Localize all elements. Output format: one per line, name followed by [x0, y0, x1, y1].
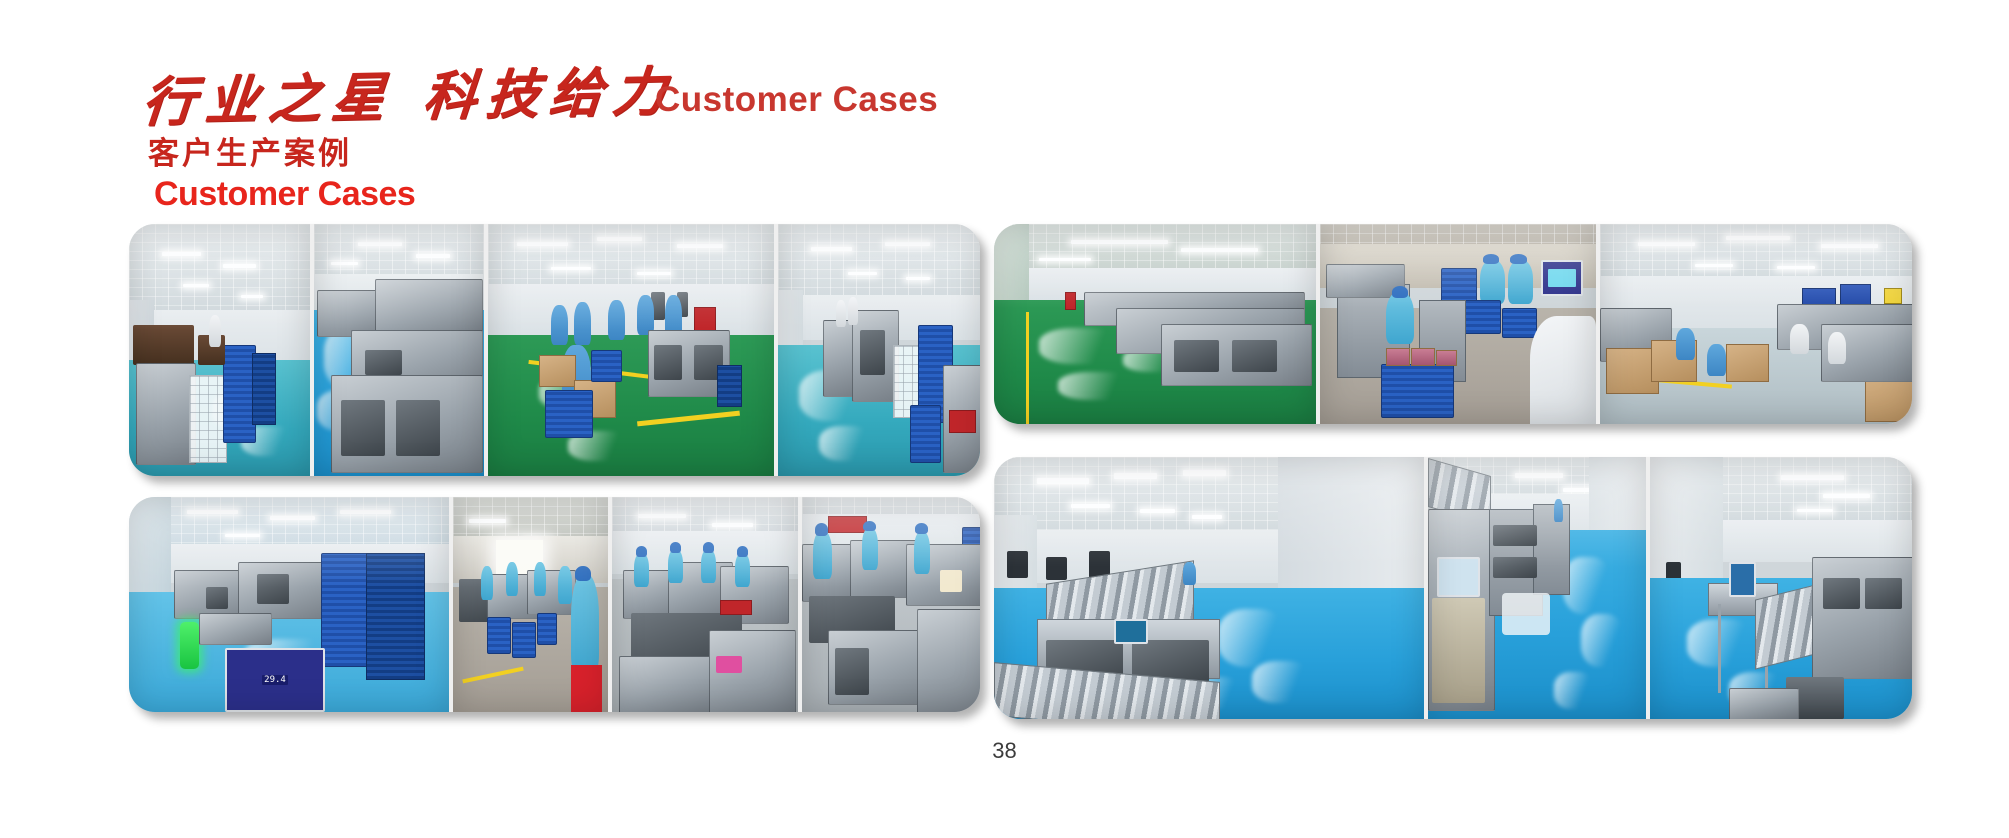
photo-dense-machine-row — [802, 497, 980, 712]
photo-machine-row-operators — [612, 497, 798, 712]
photo-machine-bank-blue-floor — [1428, 457, 1646, 719]
photo-long-line-green-floor — [994, 224, 1316, 424]
header-customer-cases-light: Customer Cases — [655, 80, 938, 120]
photo-cleanroom-corridor-blue — [994, 457, 1424, 719]
photo-group-top-right — [994, 224, 1912, 424]
calligraphy-title: 行业之星 科技给力 — [139, 49, 679, 136]
photo-packing-station-crates — [1320, 224, 1596, 424]
photo-hmi-andon-blue-floor: 29.4 — [129, 497, 449, 712]
subtitle-customer-cases-bold: Customer Cases — [154, 175, 415, 214]
photo-group-bottom-right — [994, 457, 1912, 719]
subtitle-chinese: 客户生产案例 — [148, 128, 352, 173]
photo-warehouse-aisle-cyan-floor — [129, 224, 310, 476]
photo-corridor-machines-cyan — [778, 224, 980, 476]
slide-canvas: 行业之星 科技给力 Customer Cases 客户生产案例 Customer… — [0, 0, 2009, 838]
photo-group-bottom-left: 29.4 — [129, 497, 980, 712]
photo-wide-hall-cartons — [1600, 224, 1912, 424]
photo-assembly-line-blue-floor — [314, 224, 484, 476]
photo-group-top-left — [129, 224, 980, 476]
hmi-display-value: 29.4 — [262, 675, 288, 685]
photo-operator-workshop-gray-floor — [453, 497, 608, 712]
photo-workers-green-floor — [488, 224, 774, 476]
slide-header: 行业之星 科技给力 Customer Cases 客户生产案例 Customer… — [0, 0, 2009, 215]
photo-conveyor-cleanroom — [1650, 457, 1912, 719]
page-number: 38 — [0, 738, 2009, 764]
